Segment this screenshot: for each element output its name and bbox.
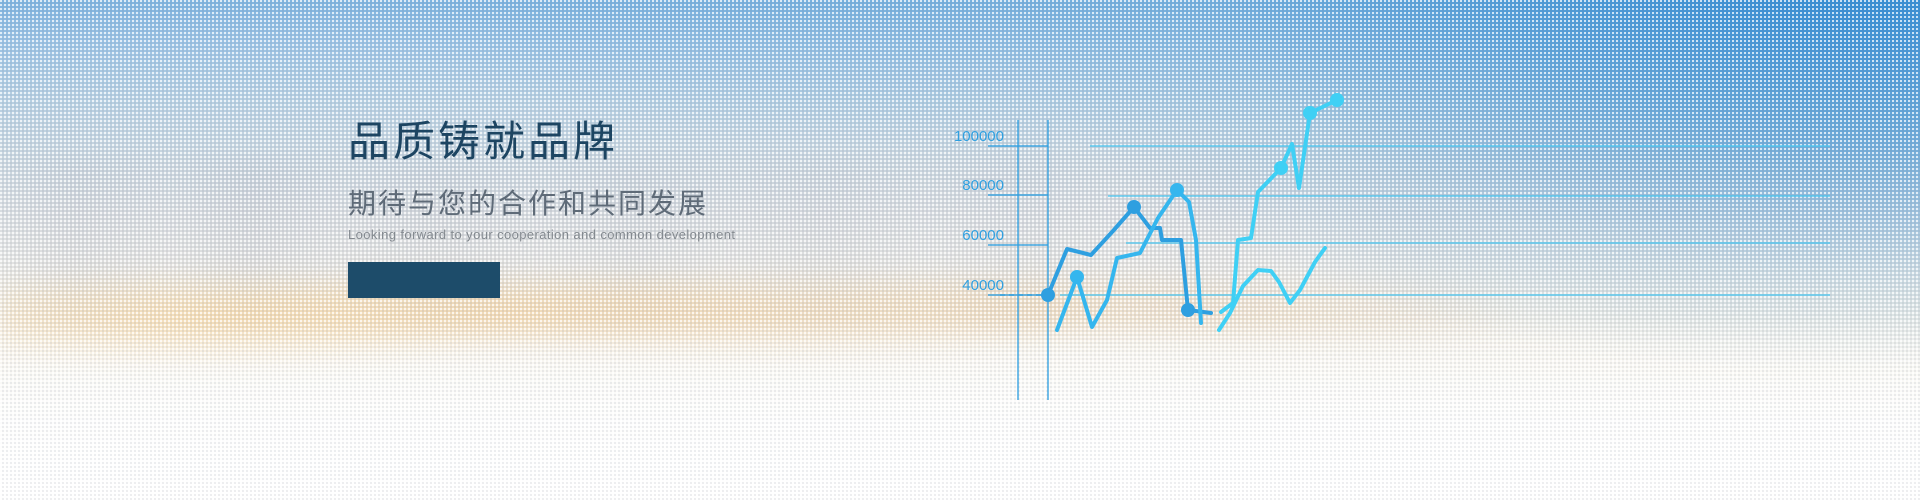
page-title: 品质铸就品牌 xyxy=(348,118,988,165)
cta-button[interactable] xyxy=(348,262,500,298)
banner-subtitle: 期待与您的合作和共同发展 xyxy=(348,187,988,221)
hero-banner: 品质铸就品牌 期待与您的合作和共同发展 Looking forward to y… xyxy=(0,0,1920,500)
banner-subtitle-en: Looking forward to your cooperation and … xyxy=(348,227,988,242)
banner-copy-block: 品质铸就品牌 期待与您的合作和共同发展 Looking forward to y… xyxy=(348,118,988,298)
